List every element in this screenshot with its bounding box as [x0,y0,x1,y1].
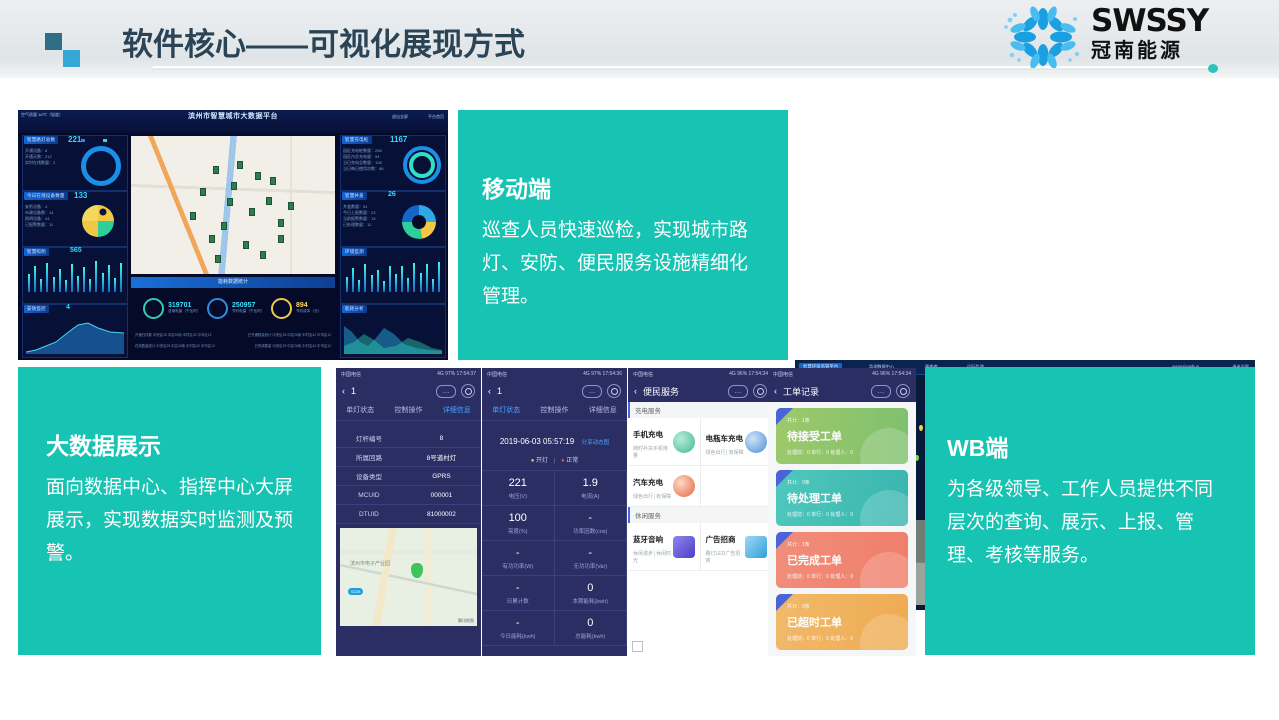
kpi-label: 总用电量（千瓦时） [168,309,200,314]
carrier-label: 中国电信 [773,371,793,378]
carrier-label: 中国电信 [487,371,507,378]
map-place-label: 滨州市电子产业园 [350,560,390,567]
detail-row: MCUID000001 [336,486,481,505]
brand-logo: SWSSY 冠南能源 [999,4,1261,70]
decor-square-dark [45,33,62,50]
areachart-security [26,316,124,354]
back-chevron-icon[interactable]: ‹ [634,386,637,396]
card-count: 共计：1条 [787,417,897,424]
ebike-charge-icon [745,431,767,453]
close-target-icon[interactable] [896,384,910,398]
card-chip-lighting: 智慧照明 [24,248,49,256]
phone-lamp-detail: 中国电信 4G 97% 17:54:37 ‹ 1 … 单灯状态 控制操作 详细信… [336,368,481,656]
tab-detail-info[interactable]: 详细信息 [433,402,481,420]
detail-row: DTUID81000002 [336,505,481,524]
brand-wordmark: SWSSY 冠南能源 [1091,5,1208,64]
phone-navbar: ‹ 工单记录 … [768,380,916,402]
metric-label: 本期能耗(kwh) [555,597,627,605]
card-rows-charging: 园区充电桩数量：256 园区内总充电量：94 当日充电总数量：108 当日每日使… [343,148,383,172]
kpi-row: 319701 总用电量（千瓦时） 250957 节约电量（千瓦时） 894 节约… [131,290,335,326]
barchart-lighting [28,260,122,292]
detail-row: 灯杆编号8 [336,429,481,448]
kpi-value: 319701 [168,302,200,309]
water-drop-radial-logo-icon [999,6,1087,68]
metric-cell: 221电压(V) [482,471,555,506]
card-chip-online-devices: 今日在线设备数量 [24,192,68,200]
metric-cell: 1.9电流(A) [555,471,628,506]
metric-cell: -今日能耗(kwh) [482,611,555,646]
kpi-label: 节约成本（元） [296,309,321,314]
card-meta: 处理前：0 单行：0 处理人：0 [787,449,897,456]
footer-row: 已完成数量 中央区25 中区26街 中村区42 中市区12 [255,341,332,352]
panel-mobile-body: 巡查人员快速巡检，实现城市路灯、安防、便民服务设施精细化管理。 [482,214,760,313]
panel-web: WB端 为各级领导、工作人员提供不同层次的查询、展示、上报、管理、考核等服务。 [925,367,1255,655]
kpi-bar-title: 能耗数据统计 [131,277,335,288]
city-map-view[interactable] [131,136,335,274]
metric-cell: 100亮度(%) [482,506,555,541]
phone-nav-title: 工单记录 [783,385,819,398]
phone-statusbar: 中国电信 4G 96% 17:54:34 [768,368,916,380]
detail-row: 所属回路8号道村灯 [336,448,481,467]
card-count: 共计：0条 [787,603,897,610]
card-chip-environment: 环境监测 [342,248,367,256]
row-value: 000001 [402,492,481,499]
service-item-empty [701,466,774,507]
phone-navbar: ‹ 1 … [482,380,627,402]
slide-root: 软件核心——可视化展现方式 [0,0,1279,720]
service-item-bluetooth-speaker[interactable]: 蓝牙音响 休闲漫步│休闲时光 [628,523,701,571]
metric-label: 日累计数 [482,597,554,605]
row-text: 当日每日使用次数：88 [343,166,383,172]
header-decor-squares [45,33,87,67]
card-value-charging: 1167 [390,135,407,144]
bottom-placeholder-box [632,641,643,652]
card-chip-security: 安防监控 [24,305,49,313]
footer-row: 已开通数量统计 中央区25 中区26街 中村区42 中市区12 [248,330,331,341]
donut-lamp-total [81,146,121,186]
detail-row: 设备类型GPRS [336,467,481,486]
panel-web-body: 为各级领导、工作人员提供不同层次的查询、展示、上报、管理、考核等服务。 [947,473,1231,572]
metric-value: - [482,582,554,594]
phone-lamp-status: 中国电信 4G 97% 17:54:36 ‹ 1 … 单灯状态 控制操作 详细信… [482,368,627,656]
phone-nav-title: 便民服务 [643,385,679,398]
bluetooth-speaker-icon [673,536,695,558]
metric-label: 电流(A) [555,492,627,500]
service-title: 蓝牙音响 [633,535,663,544]
back-chevron-icon[interactable]: ‹ [774,386,777,396]
tab-control-ops[interactable]: 控制操作 [384,402,432,420]
row-key: MCUID [336,492,402,499]
metric-grid: 221电压(V) 1.9电流(A) 100亮度(%) -功率因数(cos) -有… [482,471,627,646]
kpi-value: 250957 [232,302,264,309]
service-sub: 休闲漫步│休闲时光 [633,550,673,564]
status-summary: 2019-06-03 05:57:19 分享动态图 ● 开灯 | ● 正常 [482,421,627,471]
metric-value: 1.9 [555,477,627,489]
service-item-ebike-charge[interactable]: 电瓶车充电 绿色出行│有保障 [701,418,774,466]
card-count: 共计：1条 [787,541,897,548]
phone-tabs[interactable]: 单灯状态 控制操作 详细信息 [336,402,481,421]
metric-value: 221 [482,477,554,489]
page-title: 软件核心——可视化展现方式 [122,19,525,64]
phone-statusbar: 中国电信 4G 96% 17:54:34 [628,368,773,380]
phone-work-orders: 中国电信 4G 96% 17:54:34 ‹ 工单记录 … 共计：1条 待接受工… [768,368,916,656]
status-indicators: 4G 97% 17:54:37 [437,371,476,377]
barchart-environment [346,260,440,292]
status-timestamp: 2019-06-03 05:57:19 [500,437,574,446]
phone-tabs[interactable]: 单灯状态 控制操作 详细信息 [482,402,627,421]
service-sub: 绿色出行│有保障 [706,449,744,456]
service-sub: 绿色出行│有保障 [633,493,671,500]
panel-bigdata-body: 面向数据中心、指挥中心大屏展示，实现数据实时监测及预警。 [46,471,295,570]
work-order-card-pending-process[interactable]: 共计：0条 待处理工单 处理前：0 单行：0 处理人：0 [776,470,908,526]
section-header-leisure: 休闲服务 [628,507,773,523]
kpi-item: 319701 总用电量（千瓦时） [131,290,207,326]
section-header-charging: 充电服务 [628,402,773,418]
metric-value: 0 [555,582,627,594]
row-value: 8号道村灯 [402,452,481,462]
more-options-icon[interactable]: … [728,385,748,398]
row-key: 灯杆编号 [336,433,402,443]
card-value-manhole: 26 [388,191,396,198]
status-indicators: 4G 96% 17:54:34 [872,371,911,377]
row-text: 已报警数量：11 [25,222,53,228]
panel-bigdata: 大数据展示 面向数据中心、指挥中心大屏展示，实现数据实时监测及预警。 [18,367,321,655]
pie-online-devices [78,202,118,240]
dashboard-weather: 空气质量 18℃（轻度） [21,112,63,118]
more-options-icon[interactable]: … [871,385,891,398]
status-flags: ● 开灯 | ● 正常 [482,455,627,464]
phone-convenience-services: 中国电信 4G 96% 17:54:34 ‹ 便民服务 … 充电服务 手机充电 … [628,368,773,656]
metric-value: - [555,512,627,524]
legend-dot [81,139,85,142]
metric-label: 有功功率(W) [482,562,554,570]
kpi-item: 894 节约成本（元） [271,290,335,326]
metric-value: - [482,547,554,559]
metric-cell: -功率因数(cos) [555,506,628,541]
row-key: 设备类型 [336,471,402,481]
card-meta: 处理前：0 单行：0 处理人：0 [787,511,897,518]
kpi-ring-icon [207,298,228,319]
map-road-badge: S228 [348,588,363,595]
panel-mobile-heading: 移动端 [482,170,760,204]
phone-charge-icon [673,431,695,453]
phone-nav-title: 1 [351,386,356,396]
dashboard-link-fullscreen[interactable]: 退出全屏 [392,114,408,120]
service-sub: 路灯LED广告招商 [706,550,746,564]
ad-board-icon [745,536,767,558]
row-key: DTUID [336,511,402,518]
status-dynamic-link[interactable]: 分享动态图 [582,440,610,446]
metric-cell: -有功功率(W) [482,541,555,576]
service-title: 广告招商 [706,535,736,544]
row-text: 已处理数量：11 [343,222,375,228]
card-chip-energy: 能耗分析 [342,305,367,313]
slide-header: 软件核心——可视化展现方式 [0,0,1279,78]
more-options-icon[interactable]: … [582,385,602,398]
card-value-online-devices: 133 [74,191,87,200]
dashboard-title: 滨州市智慧城市大数据平台 [18,111,448,121]
close-target-icon[interactable] [461,384,475,398]
card-count: 共计：0条 [787,479,897,486]
tab-control-ops[interactable]: 控制操作 [530,402,578,420]
work-order-card-overdue[interactable]: 共计：0条 已超时工单 处理前：0 单行：0 处理人：0 [776,594,908,650]
service-item-ad-board[interactable]: 广告招商 路灯LED广告招商 [701,523,774,571]
metric-value: - [555,547,627,559]
row-value: 8 [402,435,481,442]
kpi-value: 894 [296,302,321,309]
service-title: 电瓶车充电 [706,434,744,443]
tab-lamp-status[interactable]: 单灯状态 [336,402,384,420]
footer-row: 开通日件数 中央区25 中区26街 中村区42 中市区12 [135,330,212,341]
carrier-label: 中国电信 [633,371,653,378]
donut-charging-inner [409,152,435,178]
row-text: 实时在线数量：2 [25,160,55,166]
kpi-bar-header: 能耗数据统计 [131,277,335,288]
map-attribution: 腾讯地图 [458,618,474,624]
service-item-car-charge[interactable]: 汽车充电 绿色出行│有保障 [628,466,701,507]
status-indicators: 4G 96% 17:54:34 [729,371,768,377]
row-value: GPRS [402,473,481,480]
card-rows-manhole: 井盖数量：51 今日上报数量：23 当前报警数量：13 已处理数量：11 [343,204,375,228]
back-chevron-icon[interactable]: ‹ [488,386,491,396]
panel-mobile: 移动端 巡查人员快速巡检，实现城市路灯、安防、便民服务设施精细化管理。 [458,110,788,360]
phone-map-view[interactable]: 滨州市电子产业园 S228 腾讯地图 [340,528,477,626]
card-rows-online-devices: 安防设备：4 市政设备数：14 照明设备：44 已报警数量：11 [25,204,53,228]
card-value-security: 4 [66,304,70,311]
metric-cell: -无功功率(Var) [555,541,628,576]
decor-square-blue [63,50,80,67]
tab-lamp-status[interactable]: 单灯状态 [482,402,530,420]
metric-value: 0 [555,617,627,629]
metric-cell: 0本期能耗(kwh) [555,576,628,611]
service-grid-leisure[interactable]: 蓝牙音响 休闲漫步│休闲时光 广告招商 路灯LED广告招商 [628,523,773,571]
normal-state-label: 正常 [566,458,578,464]
metric-label: 今日能耗(kwh) [482,632,554,640]
dashboard-footer-stats: 开通日件数 中央区25 中区26街 中村区42 中市区12已开通数量统计 中央区… [135,330,331,352]
row-value: 81000002 [402,511,481,518]
kpi-item: 250957 节约电量（千瓦时） [207,290,271,326]
car-charge-icon [673,475,695,497]
card-value-lighting: 565 [70,247,82,254]
brand-chinese: 冠南能源 [1091,39,1208,64]
close-target-icon[interactable] [607,384,621,398]
panel-bigdata-heading: 大数据展示 [46,427,295,461]
back-chevron-icon[interactable]: ‹ [342,386,345,396]
card-value-lamp-total: 221 [68,135,81,144]
dashboard-link-home[interactable]: 平台首页 [428,114,444,120]
work-order-card-completed[interactable]: 共计：1条 已完成工单 处理前：0 单行：0 处理人：0 [776,532,908,588]
pie-manhole [398,202,440,242]
service-item-phone-charge[interactable]: 手机充电 随时补充手机电量 [628,418,701,466]
card-meta: 处理前：0 单行：0 处理人：0 [787,635,897,642]
tab-detail-info[interactable]: 详细信息 [579,402,627,420]
metric-label: 亮度(%) [482,527,554,535]
card-chip-charging: 智慧充电桩 [342,136,372,144]
bigdata-dashboard-screenshot: 滨州市智慧城市大数据平台 空气质量 18℃（轻度） 退出全屏 平台首页 智慧路灯… [18,110,448,360]
kpi-ring-icon [271,298,292,319]
metric-label: 无功功率(Var) [555,562,627,570]
service-title: 手机充电 [633,430,663,439]
legend-dot [103,139,107,142]
brand-latin: SWSSY [1091,5,1208,37]
phone-statusbar: 中国电信 4G 97% 17:54:36 [482,368,627,380]
panel-web-heading: WB端 [947,429,1231,463]
metric-cell: 0总能耗(kwh) [555,611,628,646]
metric-label: 功率因数(cos) [555,527,627,535]
areachart-energy [344,316,442,354]
card-meta: 处理前：0 单行：0 处理人：0 [787,573,897,580]
card-chip-lamp-total: 智慧路灯总数 [24,136,58,144]
metric-value: 100 [482,512,554,524]
card-rows-lamp-total: 开通设备：8 开通天数：212 实时在线数量：2 [25,148,55,166]
row-key: 所属回路 [336,452,402,462]
card-chip-manhole: 智慧井盖 [342,192,367,200]
footer-row: 在线数量统计 中央区25 中区26街 中村区42 中市区12 [135,341,215,352]
lamp-on-icon: ● [531,458,535,464]
phone-navbar: ‹ 1 … [336,380,481,402]
status-indicators: 4G 97% 17:54:36 [583,371,622,377]
metric-label: 总能耗(kwh) [555,632,627,640]
service-grid-charging[interactable]: 手机充电 随时补充手机电量 电瓶车充电 绿色出行│有保障 汽车充电 绿色出行│有… [628,418,773,507]
metric-value: - [482,617,554,629]
service-sub: 随时补充手机电量 [633,445,673,459]
normal-status-icon: ● [561,458,565,464]
service-title: 汽车充电 [633,478,663,487]
work-order-card-pending-accept[interactable]: 共计：1条 待接受工单 处理前：0 单行：0 处理人：0 [776,408,908,464]
lamp-state-label: 开灯 [536,458,548,464]
kpi-ring-icon [143,298,164,319]
carrier-label: 中国电信 [341,371,361,378]
close-target-icon[interactable] [753,384,767,398]
more-options-icon[interactable]: … [436,385,456,398]
phone-statusbar: 中国电信 4G 97% 17:54:37 [336,368,481,380]
metric-label: 电压(V) [482,492,554,500]
phone-navbar: ‹ 便民服务 … [628,380,773,402]
metric-cell: -日累计数 [482,576,555,611]
kpi-label: 节约电量（千瓦时） [232,309,264,314]
phone-nav-title: 1 [497,386,502,396]
